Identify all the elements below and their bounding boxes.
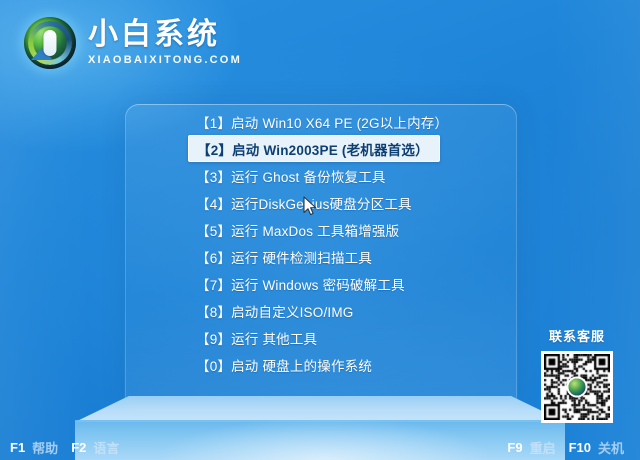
boot-menu-screen: 小白系统 XIAOBAIXITONG.COM 【1】启动 Win10 X64 P… (0, 0, 640, 460)
function-key-f1[interactable]: F1 (10, 440, 25, 455)
boot-menu-item-2[interactable]: 【2】启动 Win2003PE (老机器首选） (188, 135, 440, 162)
pedestal-front-face (75, 420, 565, 460)
boot-menu-item-label: 【0】启动 硬盘上的操作系统 (196, 355, 372, 375)
boot-menu-item-7[interactable]: 【7】运行 Windows 密码破解工具 (188, 270, 440, 297)
recycle-globe-icon (24, 17, 76, 69)
boot-menu-item-label: 【5】运行 MaxDos 工具箱增强版 (196, 220, 399, 240)
boot-menu-item-label: 【3】运行 Ghost 备份恢复工具 (196, 166, 386, 186)
boot-menu-item-3[interactable]: 【3】运行 Ghost 备份恢复工具 (188, 162, 440, 189)
customer-service-block: 联系客服 (530, 326, 624, 423)
boot-menu-item-1[interactable]: 【1】启动 Win10 X64 PE (2G以上内存） (188, 108, 440, 135)
function-key-desc-f1: 帮助 (32, 438, 58, 457)
boot-menu-item-label: 【9】运行 其他工具 (196, 328, 317, 348)
brand-name-en: XIAOBAIXITONG.COM (88, 55, 242, 66)
mouse-pointer-icon (303, 196, 319, 218)
boot-menu-item-5[interactable]: 【5】运行 MaxDos 工具箱增强版 (188, 216, 440, 243)
boot-menu-item-label: 【7】运行 Windows 密码破解工具 (196, 274, 405, 294)
boot-menu-item-label: 【6】运行 硬件检测扫描工具 (196, 247, 372, 267)
customer-service-label: 联系客服 (549, 326, 605, 345)
boot-menu-item-8[interactable]: 【8】启动自定义ISO/IMG (188, 297, 440, 324)
brand-name-cn: 小白系统 (88, 20, 242, 50)
boot-menu-item-label: 【8】启动自定义ISO/IMG (196, 301, 354, 321)
boot-menu-item-6[interactable]: 【6】运行 硬件检测扫描工具 (188, 243, 440, 270)
brand-text: 小白系统 XIAOBAIXITONG.COM (88, 20, 242, 66)
boot-menu-list: 【1】启动 Win10 X64 PE (2G以上内存）【2】启动 Win2003… (188, 108, 440, 378)
qr-center-logo-icon (569, 379, 586, 396)
boot-menu-item-9[interactable]: 【9】运行 其他工具 (188, 324, 440, 351)
brand-header: 小白系统 XIAOBAIXITONG.COM (0, 0, 640, 86)
function-key-f10[interactable]: F10 (569, 440, 591, 455)
function-key-desc-f10: 关机 (598, 438, 624, 457)
boot-menu-item-label: 【1】启动 Win10 X64 PE (2G以上内存） (196, 112, 448, 132)
pedestal-top-surface (75, 396, 565, 422)
qr-code-icon[interactable] (541, 351, 613, 423)
boot-menu-item-label: 【2】启动 Win2003PE (老机器首选） (197, 139, 429, 159)
boot-menu-item-0[interactable]: 【0】启动 硬盘上的操作系统 (188, 351, 440, 378)
